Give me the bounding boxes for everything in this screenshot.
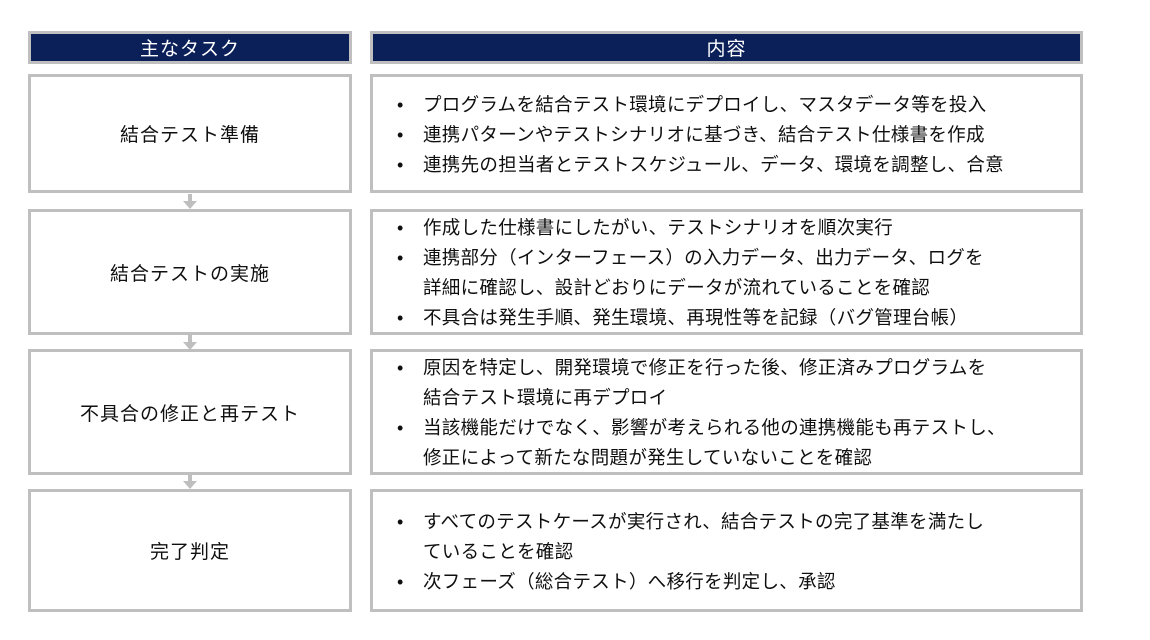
list-item-text: 原因を特定し、開発環境で修正を行った後、修正済みプログラムを 結合テスト環境に再… <box>423 357 986 408</box>
list-item: •作成した仕様書にしたがい、テストシナリオを順次実行 <box>385 213 1068 243</box>
list-item-text: 作成した仕様書にしたがい、テストシナリオを順次実行 <box>423 217 893 238</box>
bullet-icon: • <box>397 120 404 150</box>
content-bullet-list-3: •原因を特定し、開発環境で修正を行った後、修正済みプログラムを 結合テスト環境に… <box>385 353 1068 473</box>
bullet-icon: • <box>397 353 404 383</box>
arrow-head <box>183 201 197 209</box>
bullet-icon: • <box>397 507 404 537</box>
arrow-row3-to-row4-icon <box>183 474 197 489</box>
list-item: •不具合は発生手順、発生環境、再現性等を記録（バグ管理台帳） <box>385 303 1068 333</box>
task-box-4: 完了判定 <box>28 489 352 612</box>
bullet-icon: • <box>397 567 404 597</box>
bullet-icon: • <box>397 150 404 180</box>
list-item: •連携部分（インターフェース）の入力データ、出力データ、ログを 詳細に確認し、設… <box>385 243 1068 303</box>
list-item: •連携先の担当者とテストスケジュール、データ、環境を調整し、合意 <box>385 150 1068 180</box>
content-box-3: •原因を特定し、開発環境で修正を行った後、修正済みプログラムを 結合テスト環境に… <box>370 349 1083 475</box>
list-item: •原因を特定し、開発環境で修正を行った後、修正済みプログラムを 結合テスト環境に… <box>385 353 1068 413</box>
task-box-2-label: 結合テストの実施 <box>110 259 270 286</box>
bullet-icon: • <box>397 90 404 120</box>
process-flow-diagram: 主なタスク 内容 結合テスト準備 •プログラムを結合テスト環境にデプロイし、マス… <box>0 0 1150 640</box>
list-item-text: 連携部分（インターフェース）の入力データ、出力データ、ログを 詳細に確認し、設計… <box>423 247 984 298</box>
content-box-4: •すべてのテストケースが実行され、結合テストの完了基準を満たし ていることを確認… <box>370 489 1083 612</box>
column-header-main-task: 主なタスク <box>28 31 352 64</box>
list-item: •次フェーズ（総合テスト）へ移行を判定し、承認 <box>385 567 1068 597</box>
list-item: •プログラムを結合テスト環境にデプロイし、マスタデータ等を投入 <box>385 90 1068 120</box>
content-bullet-list-2: •作成した仕様書にしたがい、テストシナリオを順次実行 •連携部分（インターフェー… <box>385 213 1068 333</box>
list-item-text: 連携先の担当者とテストスケジュール、データ、環境を調整し、合意 <box>423 154 1004 175</box>
list-item-text: 不具合は発生手順、発生環境、再現性等を記録（バグ管理台帳） <box>423 307 968 328</box>
list-item: •連携パターンやテストシナリオに基づき、結合テスト仕様書を作成 <box>385 120 1068 150</box>
content-bullet-list-1: •プログラムを結合テスト環境にデプロイし、マスタデータ等を投入 •連携パターンや… <box>385 90 1068 180</box>
arrow-row1-to-row2-icon <box>183 194 197 209</box>
list-item: •当該機能だけでなく、影響が考えられる他の連携機能も再テストし、 修正によって新… <box>385 413 1068 473</box>
list-item-text: 次フェーズ（総合テスト）へ移行を判定し、承認 <box>423 571 836 592</box>
bullet-icon: • <box>397 213 404 243</box>
task-box-1: 結合テスト準備 <box>28 74 352 193</box>
column-header-content-label: 内容 <box>706 34 746 61</box>
task-box-3-label: 不具合の修正と再テスト <box>80 399 300 426</box>
content-box-1: •プログラムを結合テスト環境にデプロイし、マスタデータ等を投入 •連携パターンや… <box>370 74 1083 193</box>
content-bullet-list-4: •すべてのテストケースが実行され、結合テストの完了基準を満たし ていることを確認… <box>385 507 1068 597</box>
bullet-icon: • <box>397 243 404 273</box>
bullet-icon: • <box>397 303 404 333</box>
task-box-2: 結合テストの実施 <box>28 209 352 335</box>
arrow-head <box>183 481 197 489</box>
list-item: •すべてのテストケースが実行され、結合テストの完了基準を満たし ていることを確認 <box>385 507 1068 567</box>
list-item-text: 当該機能だけでなく、影響が考えられる他の連携機能も再テストし、 修正によって新た… <box>423 417 1006 468</box>
list-item-text: すべてのテストケースが実行され、結合テストの完了基準を満たし ていることを確認 <box>423 511 984 562</box>
arrow-row2-to-row3-icon <box>183 335 197 350</box>
task-box-4-label: 完了判定 <box>150 537 230 564</box>
task-box-3: 不具合の修正と再テスト <box>28 349 352 475</box>
column-header-content: 内容 <box>370 31 1083 64</box>
column-header-main-task-label: 主なタスク <box>140 34 240 61</box>
list-item-text: プログラムを結合テスト環境にデプロイし、マスタデータ等を投入 <box>423 94 986 115</box>
task-box-1-label: 結合テスト準備 <box>120 120 260 147</box>
list-item-text: 連携パターンやテストシナリオに基づき、結合テスト仕様書を作成 <box>423 124 985 145</box>
content-box-2: •作成した仕様書にしたがい、テストシナリオを順次実行 •連携部分（インターフェー… <box>370 209 1083 335</box>
bullet-icon: • <box>397 413 404 443</box>
